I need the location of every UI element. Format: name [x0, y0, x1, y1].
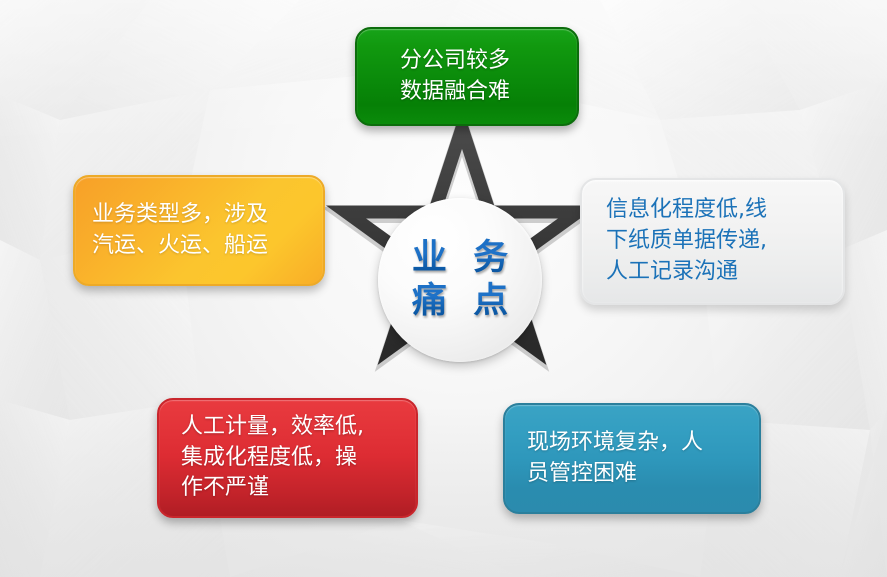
node-informatization-label: 信息化程度低,线 下纸质单据传递, 人工记录沟通 [582, 195, 843, 287]
hub-line-2: 痛 点 [405, 280, 515, 323]
infographic-canvas: 业 务 痛 点 分公司较多 数据融合难 业务类型多，涉及 汽运、火运、船运 信息… [0, 0, 887, 577]
node-site-environment[interactable]: 现场环境复杂，人 员管控困难 [503, 403, 761, 514]
node-branches[interactable]: 分公司较多 数据融合难 [355, 27, 579, 126]
node-business-types[interactable]: 业务类型多，涉及 汽运、火运、船运 [73, 175, 325, 286]
center-hub: 业 务 痛 点 [378, 198, 542, 362]
node-manual-metering[interactable]: 人工计量，效率低, 集成化程度低，操 作不严谨 [157, 398, 418, 518]
node-site-environment-label: 现场环境复杂，人 员管控困难 [505, 428, 759, 490]
node-branches-label: 分公司较多 数据融合难 [357, 46, 577, 108]
node-manual-metering-label: 人工计量，效率低, 集成化程度低，操 作不严谨 [159, 412, 416, 504]
node-informatization[interactable]: 信息化程度低,线 下纸质单据传递, 人工记录沟通 [580, 178, 845, 305]
hub-line-1: 业 务 [405, 237, 515, 280]
node-business-types-label: 业务类型多，涉及 汽运、火运、船运 [75, 200, 323, 262]
